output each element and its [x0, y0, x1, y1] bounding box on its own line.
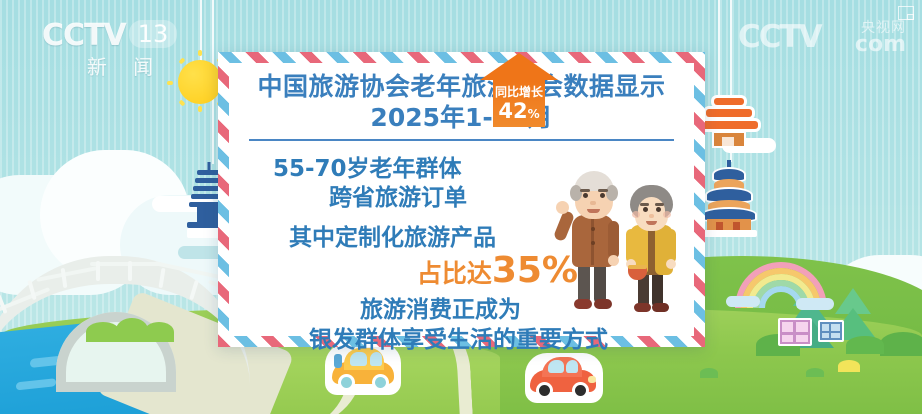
- cctv-logo: CCTV13 新 闻: [42, 18, 192, 74]
- growth-number: 42: [498, 99, 527, 123]
- watermark-cctv-text: CCTV: [738, 19, 821, 55]
- growth-badge-label: 同比增长: [480, 83, 558, 100]
- grass-tuft-2: [806, 368, 824, 377]
- broadcast-frame: 中国旅游协会老年旅游分会数据显示 2025年1-10月 55-70岁老年群体 跨…: [0, 0, 922, 414]
- growth-percent: %: [528, 107, 540, 121]
- card-title-line2: 2025年1-10月: [245, 103, 678, 133]
- bush-left-3: [144, 322, 174, 342]
- channel-name: 新 闻: [42, 51, 192, 80]
- red-car: [528, 356, 600, 400]
- orange-pagoda-ornament: [698, 98, 760, 150]
- conclusion-line2: 银发群体享受生活的重要方式: [245, 326, 678, 356]
- screen-corner-icon: [898, 6, 914, 20]
- share-label: 占比达: [417, 259, 492, 288]
- elderly-couple-illustration: [556, 163, 686, 315]
- hanging-string-pagoda-orange: [718, 0, 720, 100]
- cctv-com-watermark: CCTV 央视网 com: [738, 8, 908, 56]
- temple-of-heaven-ornament: [700, 160, 758, 238]
- bush-left: [86, 322, 120, 342]
- pink-house: [778, 318, 812, 346]
- bush-right-2: [880, 332, 922, 356]
- title-divider: [249, 139, 674, 141]
- grass-tuft-yellow: [838, 360, 860, 372]
- card-title-line1: 中国旅游协会老年旅游分会数据显示: [245, 72, 678, 102]
- channel-number: 13: [129, 20, 178, 48]
- cctv-logo-text: CCTV: [42, 18, 126, 53]
- growth-badge-value: 42%: [480, 99, 558, 123]
- grass-tuft-1: [700, 368, 718, 378]
- rainbow-cloud-right: [796, 298, 834, 310]
- growth-badge: 同比增长 42%: [480, 53, 558, 127]
- rainbow-cloud-left: [726, 296, 760, 307]
- watermark-domain: com: [855, 32, 906, 57]
- bush-right-3: [846, 336, 884, 354]
